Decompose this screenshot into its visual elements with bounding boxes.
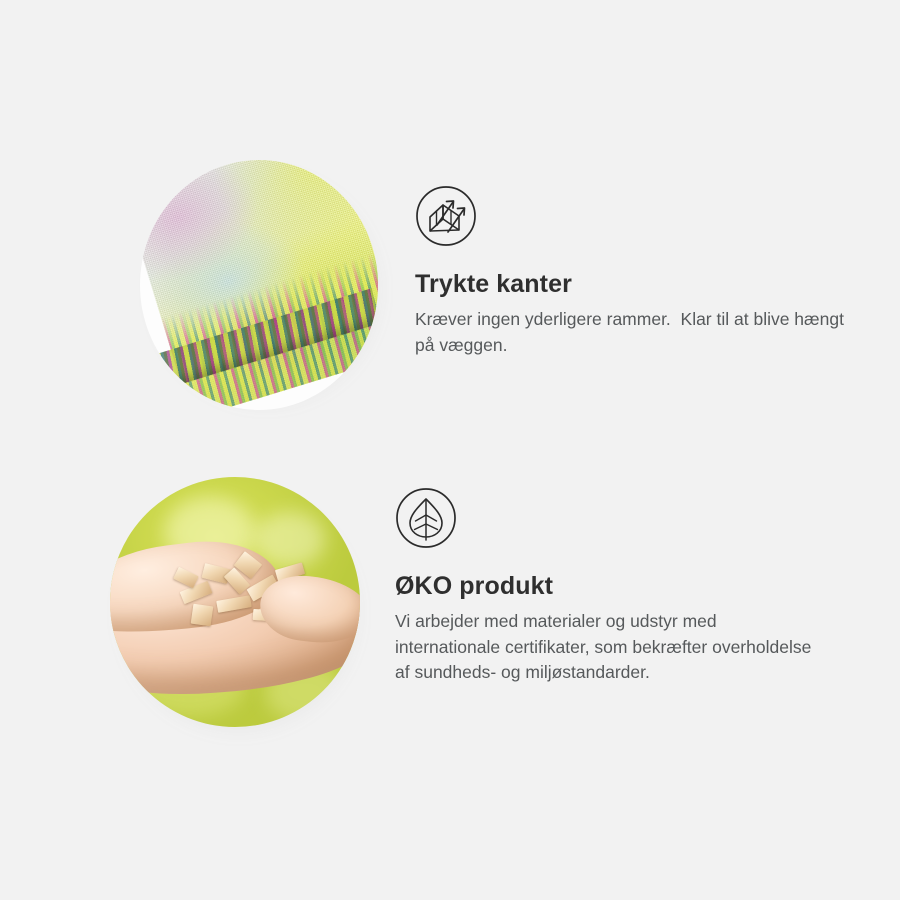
feature-title: Trykte kanter [415, 269, 845, 299]
wood-chip [179, 581, 212, 604]
leaf-icon [395, 487, 457, 549]
feature-block-eco-product: ØKO produkt Vi arbejder med materialer o… [0, 465, 825, 745]
hands-wood-chips-photo [100, 465, 370, 745]
product-features-panel: Trykte kanter Kræver ingen yderligere ra… [0, 0, 900, 900]
feature-text-block: Trykte kanter Kræver ingen yderligere ra… [390, 150, 845, 358]
feature-title: ØKO produkt [395, 571, 825, 601]
photo-circle-mask [140, 160, 378, 410]
feature-description: Vi arbejder med materialer og udstyr med… [395, 609, 825, 686]
printed-canvas-edge-icon [415, 185, 477, 247]
photo-circle-mask [110, 477, 360, 727]
wood-chip [191, 604, 214, 627]
feature-text-block: ØKO produkt Vi arbejder med materialer o… [370, 465, 825, 686]
feature-description: Kræver ingen yderligere rammer. Klar til… [415, 307, 845, 358]
wood-chip [216, 595, 252, 613]
canvas-corner-illustration [140, 160, 378, 410]
feature-block-printed-edges: Trykte kanter Kræver ingen yderligere ra… [0, 150, 845, 430]
canvas-corner-photo [130, 150, 390, 430]
